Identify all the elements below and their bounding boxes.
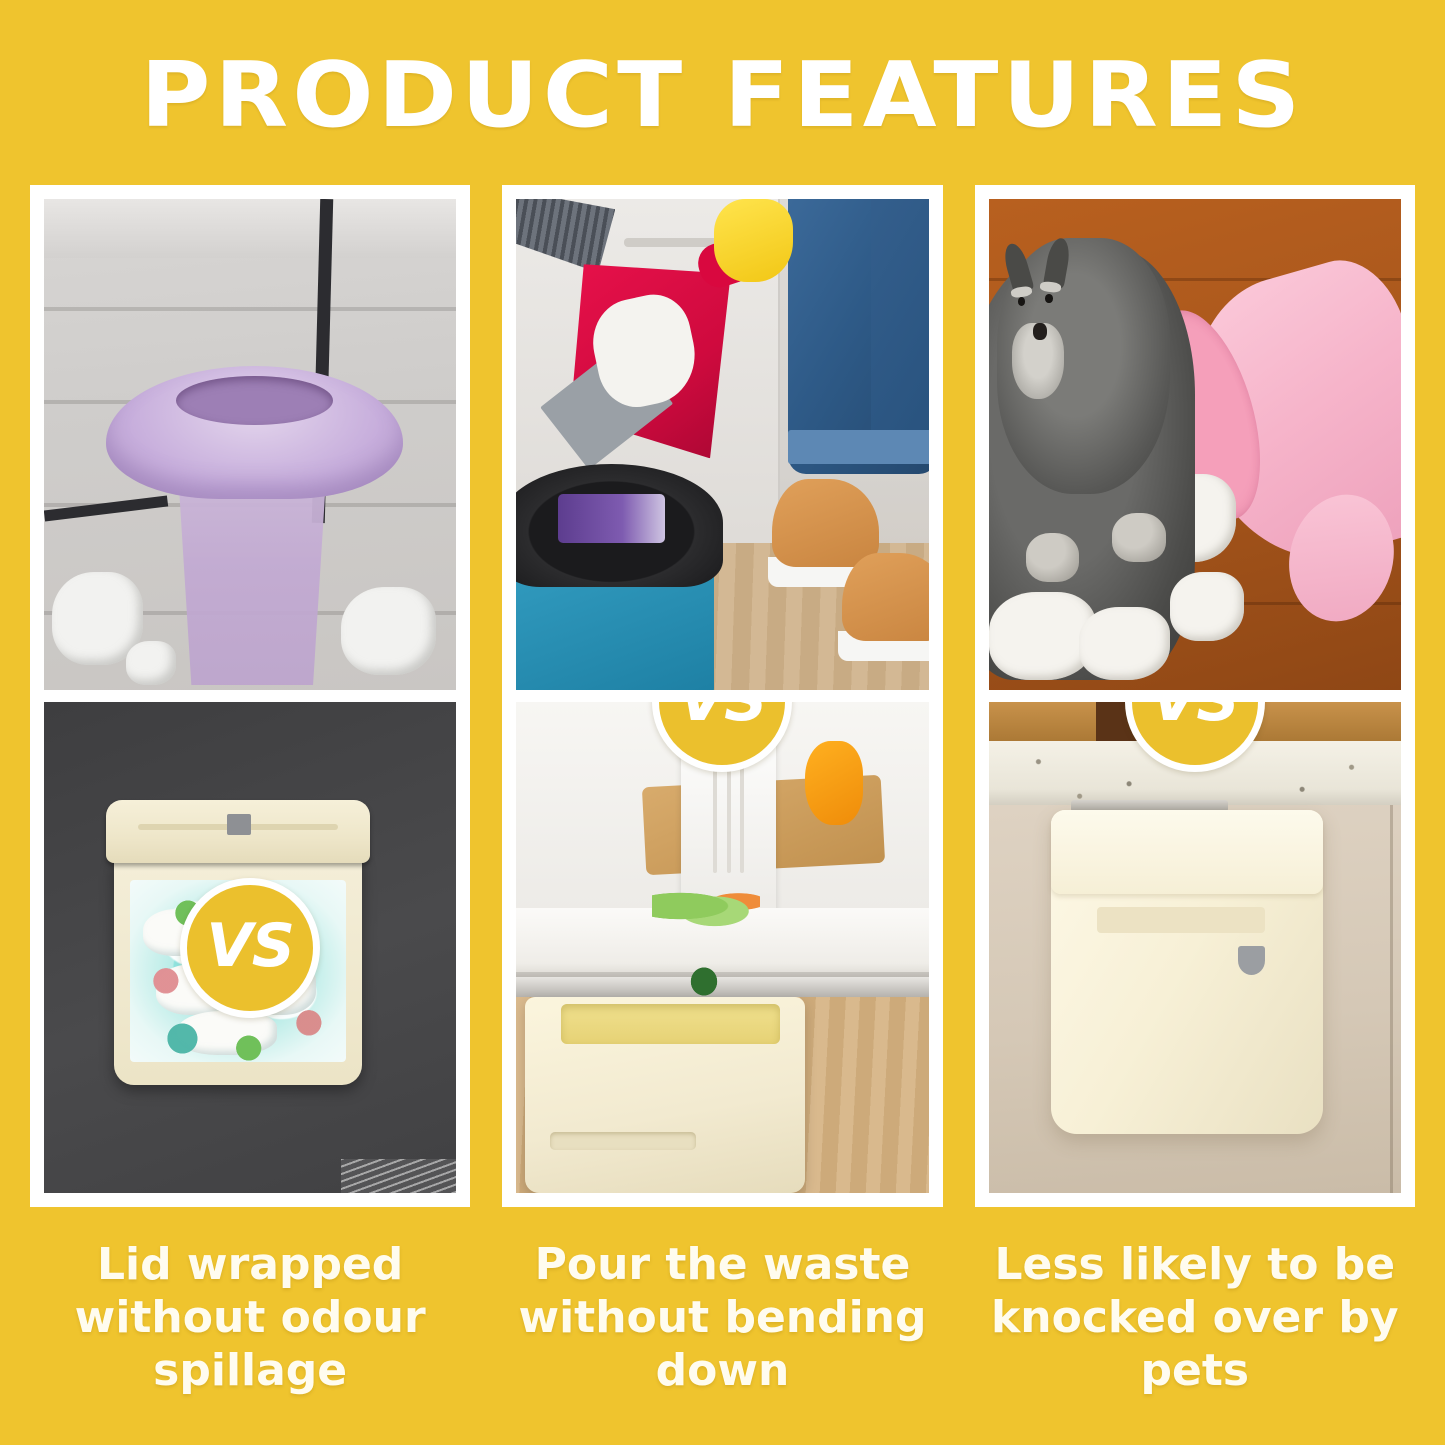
scattered-tissue (1079, 607, 1170, 681)
pink-bin-opening (1130, 298, 1281, 532)
germ-icon (151, 966, 181, 996)
crumpled-paper (126, 641, 175, 685)
jeans-cuff (788, 430, 928, 464)
vs-badge-3: VS (1125, 702, 1265, 772)
bag-opening (176, 376, 333, 425)
dog-ear (1001, 241, 1034, 293)
bin-contents (558, 494, 665, 543)
yellow-pepper (805, 741, 863, 824)
open-bin-with-purple-liner-photo (44, 199, 456, 690)
counter-edge (516, 972, 928, 992)
waste-tissue (143, 909, 217, 956)
vegetable-scraps (652, 884, 759, 928)
floor-plank (989, 278, 1401, 281)
furniture-rail (44, 496, 168, 522)
caption-row: Lid wrapped without odour spillage Pour … (30, 1238, 1415, 1428)
pink-bin-lid (1276, 483, 1401, 632)
cabinet-handle (624, 238, 723, 247)
bin-hanging-hook (1071, 800, 1228, 812)
cabinet-mounted-bin-photo: VS (989, 702, 1401, 1193)
odour-circulation-icon (179, 938, 296, 1011)
dog-paw (1026, 533, 1080, 582)
vs-badge-label: VS (206, 911, 294, 981)
waste-tissue (220, 895, 307, 946)
paper-waste (585, 288, 704, 414)
dog-nose (1033, 323, 1047, 341)
shoe-sole (838, 631, 929, 660)
purple-bag-liner (106, 366, 403, 499)
germ-icon (264, 916, 294, 946)
wall-mounted-bin (1051, 810, 1323, 1134)
waste-tissue (238, 960, 316, 1015)
waste-tissue (177, 1011, 277, 1055)
dog-eyebrow (1040, 281, 1062, 293)
dog-with-tipped-bin-photo (989, 199, 1401, 690)
sealed-bin-cutaway-photo: VS (44, 702, 456, 1193)
falling-herb (681, 957, 726, 1006)
dog-body (989, 248, 1195, 680)
dog-ear (1043, 237, 1072, 288)
scattered-tissue (989, 592, 1096, 680)
floor-plank (44, 503, 456, 507)
dog-head (997, 238, 1170, 493)
vs-badge-2: VS (652, 702, 792, 772)
cabinet-shadow (1096, 702, 1150, 746)
scattered-tissue (1170, 572, 1244, 641)
page-title: PRODUCT FEATURES (0, 46, 1445, 146)
vs-badge-1: VS (180, 878, 320, 1018)
bin-grip (550, 1132, 696, 1150)
dustpan-lip (541, 341, 674, 469)
bin-cutaway-window (130, 880, 346, 1062)
cabinet-door (989, 805, 1401, 1193)
hanging-bin (525, 997, 805, 1193)
dog-beard (1012, 323, 1064, 400)
product-features-poster: PRODUCT FEATURES (0, 0, 1445, 1445)
lid-latch (227, 814, 251, 835)
lid-slot (138, 824, 339, 830)
waste-tissue (156, 964, 238, 1015)
counter-scraper-into-hanging-bin-photo: VS (516, 702, 928, 1193)
lid-latch (1238, 946, 1265, 975)
floor-plank (44, 307, 456, 311)
bin-lid (106, 800, 370, 863)
upper-cabinet (989, 702, 1401, 746)
germ-icon (233, 1033, 263, 1062)
white-scraper (681, 731, 776, 922)
dustpan-handle (693, 228, 777, 293)
floor-plank (44, 611, 456, 615)
blue-floor-bin (516, 533, 714, 690)
crumpled-paper (52, 572, 143, 665)
black-bin-liner (516, 464, 722, 587)
metal-rail (516, 977, 928, 997)
jeans-leg (788, 199, 928, 474)
germ-icon (246, 989, 276, 1019)
cabinet-door-edge (1390, 805, 1393, 1193)
red-dustpan (547, 249, 749, 473)
vs-badge-label: VS (1151, 702, 1239, 735)
dog-eyebrow (1010, 285, 1032, 298)
tipped-pink-bin (1160, 246, 1401, 583)
tan-shoe (772, 479, 879, 567)
germ-icon (164, 1020, 200, 1056)
comparison-column-3: VS (975, 185, 1415, 1207)
comparison-column-2: VS (502, 185, 942, 1207)
yellow-glove (714, 199, 792, 282)
wood-floor (516, 543, 928, 690)
wood-cabinet-door (516, 987, 928, 1193)
cutting-board (642, 774, 885, 875)
bin-open-top (561, 1004, 780, 1043)
dog-eye (1018, 297, 1025, 306)
floor-plank (989, 602, 1401, 605)
shoe-sole (768, 557, 883, 586)
germ-icon (294, 1007, 324, 1037)
broom-head (516, 199, 615, 273)
vs-badge-label: VS (679, 702, 767, 735)
kitchen-cabinet (516, 199, 780, 562)
furniture-leg (312, 199, 333, 523)
bin-body (114, 857, 362, 1085)
comparison-columns: VS (30, 185, 1415, 1207)
crumpled-paper (341, 587, 436, 675)
floor-plank (989, 494, 1401, 497)
floor-edge (341, 1159, 456, 1193)
caption-column-1: Lid wrapped without odour spillage (30, 1238, 470, 1428)
floor-plank (989, 386, 1401, 389)
floor-plank (44, 400, 456, 404)
kitchen-backsplash (516, 702, 928, 928)
jeans-leg (871, 199, 929, 454)
kitchen-counter (516, 908, 928, 987)
scattered-tissue (1145, 474, 1236, 562)
wall-mounted-bin (106, 800, 370, 1085)
bin-lid (1051, 810, 1323, 894)
germ-icon (173, 898, 203, 928)
dog-paw (1112, 513, 1166, 562)
speckled-countertop (989, 741, 1401, 810)
comparison-column-1: VS (30, 185, 470, 1207)
plastic-bin (168, 469, 337, 685)
background-wall (44, 199, 456, 258)
dog-eye (1045, 294, 1052, 303)
caption-column-3: Less likely to be knocked over by pets (975, 1238, 1415, 1428)
dustpan-into-floor-bin-photo (516, 199, 928, 690)
tan-shoe (842, 553, 929, 641)
lid-slot (1097, 907, 1266, 933)
caption-column-2: Pour the waste without bending down (502, 1238, 942, 1428)
